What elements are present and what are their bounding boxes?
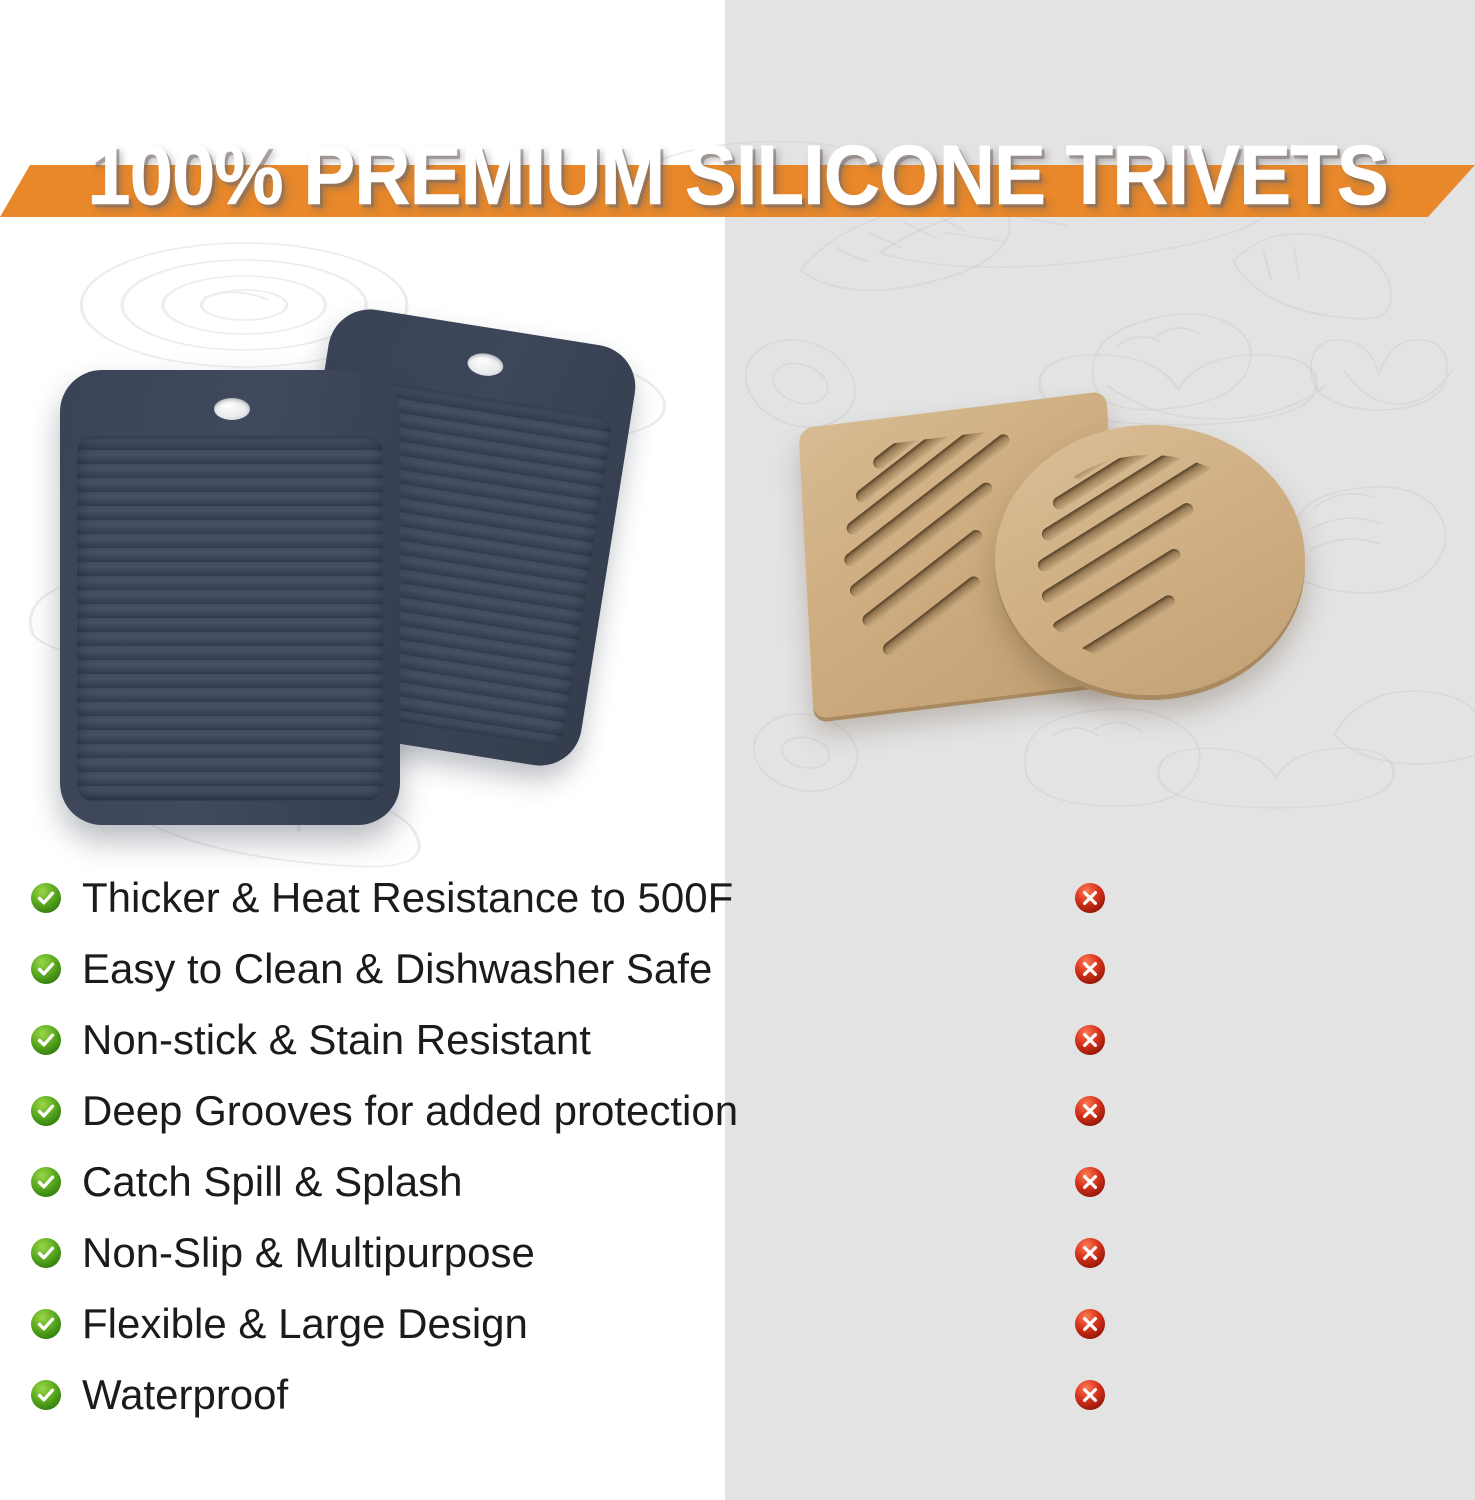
check-circle-icon (30, 1379, 62, 1411)
feature-right-cell (1074, 862, 1106, 933)
comparison-row: Non-Slip & Multipurpose (0, 1217, 1475, 1288)
headline-banner: 100% PREMIUM SILICONE TRIVETS (0, 120, 1475, 230)
comparison-row: Flexible & Large Design (0, 1288, 1475, 1359)
feature-comparison-list: Thicker & Heat Resistance to 500FEasy to… (0, 862, 1475, 1430)
slot-pattern (1025, 455, 1275, 665)
feature-right-cell (1074, 1146, 1106, 1217)
x-circle-icon (1074, 953, 1106, 985)
feature-right-cell (1074, 1217, 1106, 1288)
comparison-row: Easy to Clean & Dishwasher Safe (0, 933, 1475, 1004)
x-circle-icon (1074, 882, 1106, 914)
check-circle-icon (30, 1308, 62, 1340)
bamboo-slot (844, 420, 991, 537)
check-circle-icon (30, 1095, 62, 1127)
feature-left-cell: Deep Grooves for added protection (30, 1075, 738, 1146)
check-circle-icon (30, 953, 62, 985)
feature-left-cell: Flexible & Large Design (30, 1288, 528, 1359)
check-circle-icon (30, 1166, 62, 1198)
x-circle-icon (1074, 1095, 1106, 1127)
feature-label: Thicker & Heat Resistance to 500F (82, 877, 733, 919)
x-circle-icon (1074, 1166, 1106, 1198)
feature-left-cell: Thicker & Heat Resistance to 500F (30, 862, 733, 933)
comparison-row: Thicker & Heat Resistance to 500F (0, 862, 1475, 933)
feature-right-cell (1074, 1359, 1106, 1430)
silicone-trivet-image (0, 230, 725, 840)
feature-right-cell (1074, 1004, 1106, 1075)
feature-left-cell: Non-Slip & Multipurpose (30, 1217, 535, 1288)
banner-title: 100% PREMIUM SILICONE TRIVETS (0, 113, 1475, 236)
check-circle-icon (30, 882, 62, 914)
comparison-row: Deep Grooves for added protection (0, 1075, 1475, 1146)
check-circle-icon (30, 1024, 62, 1056)
hanging-hole (466, 351, 505, 378)
feature-left-cell: Waterproof (30, 1359, 288, 1430)
feature-label: Flexible & Large Design (82, 1303, 528, 1345)
infographic-page: 100% PREMIUM SILICONE TRIVETS Thicker & … (0, 0, 1475, 1500)
comparison-row: Catch Spill & Splash (0, 1146, 1475, 1217)
feature-label: Easy to Clean & Dishwasher Safe (82, 948, 712, 990)
comparison-row: Waterproof (0, 1359, 1475, 1430)
feature-label: Catch Spill & Splash (82, 1161, 463, 1203)
x-circle-icon (1074, 1379, 1106, 1411)
feature-left-cell: Easy to Clean & Dishwasher Safe (30, 933, 712, 1004)
feature-label: Deep Grooves for added protection (82, 1090, 738, 1132)
feature-left-cell: Catch Spill & Splash (30, 1146, 463, 1217)
comparison-row: Non-stick & Stain Resistant (0, 1004, 1475, 1075)
feature-label: Non-stick & Stain Resistant (82, 1019, 591, 1061)
rib-texture (77, 436, 383, 801)
feature-label: Waterproof (82, 1374, 288, 1416)
bamboo-trivet-image (725, 230, 1475, 840)
feature-right-cell (1074, 1288, 1106, 1359)
feature-right-cell (1074, 933, 1106, 1004)
x-circle-icon (1074, 1237, 1106, 1269)
bamboo-trivet-round (995, 425, 1305, 695)
x-circle-icon (1074, 1308, 1106, 1340)
check-circle-icon (30, 1237, 62, 1269)
bamboo-slot (880, 574, 982, 658)
feature-left-cell: Non-stick & Stain Resistant (30, 1004, 591, 1075)
feature-label: Non-Slip & Multipurpose (82, 1232, 535, 1274)
feature-right-cell (1074, 1075, 1106, 1146)
hanging-hole (214, 398, 250, 420)
x-circle-icon (1074, 1024, 1106, 1056)
silicone-trivet-front (60, 370, 400, 825)
